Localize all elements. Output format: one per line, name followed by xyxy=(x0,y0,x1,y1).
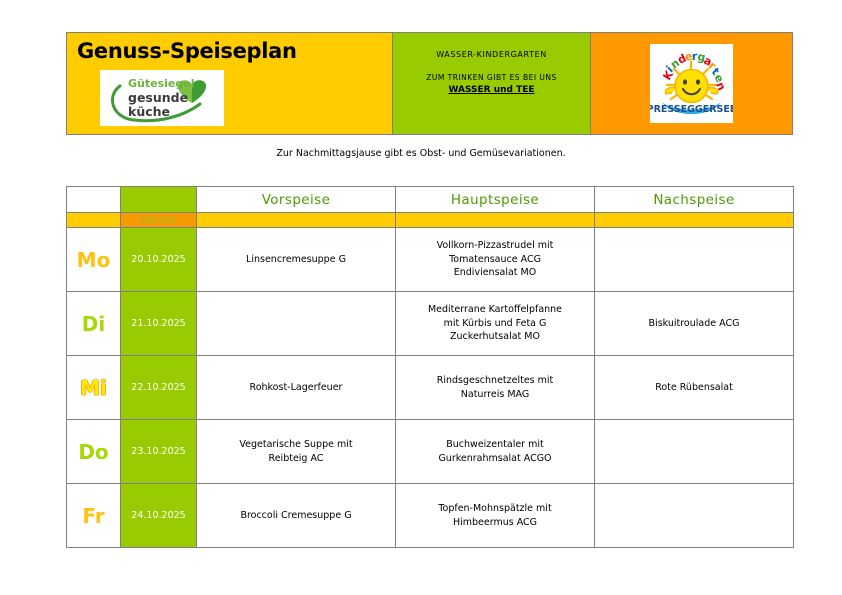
water-kindergarten-notice: WASSER-KINDERGARTEN ZUM TRINKEN GIBT ES … xyxy=(393,33,591,134)
guetesiegel-logo: Gütesiegel gesunde küche xyxy=(100,70,224,126)
main-cell: Mediterrane Kartoffelpfannemit Kürbis un… xyxy=(396,292,595,356)
afternoon-snack-note: Zur Nachmittagsjause gibt es Obst- und G… xyxy=(0,148,842,159)
dessert-cell xyxy=(595,484,794,548)
table-row: Di 21.10.2025 Mediterrane Kartoffelpfann… xyxy=(67,292,794,356)
banner-title-cell: Genuss-Speiseplan Gütesiegel gesunde küc… xyxy=(67,33,393,134)
table-accent-band-row: Datum xyxy=(67,213,794,228)
day-label: Fr xyxy=(67,484,121,548)
table-header-row: Vorspeise Hauptspeise Nachspeise xyxy=(67,187,794,213)
svg-text:Gütesiegel: Gütesiegel xyxy=(128,77,194,90)
day-label: Mo xyxy=(67,228,121,292)
day-label: Di xyxy=(67,292,121,356)
starter-cell: Broccoli Cremesuppe G xyxy=(197,484,396,548)
header-cell-dessert: Nachspeise xyxy=(595,187,794,213)
header-cell-date xyxy=(121,187,197,213)
dessert-cell xyxy=(595,420,794,484)
main-cell: Vollkorn-Pizzastrudel mitTomatensauce AC… xyxy=(396,228,595,292)
main-cell: Rindsgeschnetzeltes mitNaturreis MAG xyxy=(396,356,595,420)
dessert-cell: Rote Rübensalat xyxy=(595,356,794,420)
header-banner: Genuss-Speiseplan Gütesiegel gesunde küc… xyxy=(66,32,793,135)
starter-cell: Linsencremesuppe G xyxy=(197,228,396,292)
starter-cell: Vegetarische Suppe mitReibteig AC xyxy=(197,420,396,484)
band-cell-day xyxy=(67,213,121,228)
starter-cell: Rohkost-Lagerfeuer xyxy=(197,356,396,420)
water-notice-emphasis: WASSER und TEE xyxy=(448,85,534,95)
table-row: Mi 22.10.2025 Rohkost-Lagerfeuer Rindsge… xyxy=(67,356,794,420)
page-title: Genuss-Speiseplan xyxy=(77,39,297,63)
guetesiegel-icon: Gütesiegel gesunde küche xyxy=(100,70,224,126)
band-cell-starter xyxy=(197,213,396,228)
date-label: 23.10.2025 xyxy=(121,420,197,484)
band-cell-dessert xyxy=(595,213,794,228)
water-notice-text: ZUM TRINKEN GIBT ES BEI UNS xyxy=(426,73,557,82)
table-row: Do 23.10.2025 Vegetarische Suppe mitReib… xyxy=(67,420,794,484)
date-label: 22.10.2025 xyxy=(121,356,197,420)
main-cell: Buchweizentaler mitGurkenrahmsalat ACGO xyxy=(396,420,595,484)
svg-text:gesunde: gesunde xyxy=(128,90,188,105)
band-cell-datum-label: Datum xyxy=(121,213,197,228)
main-cell: Topfen-Mohnspätzle mitHimbeermus ACG xyxy=(396,484,595,548)
header-cell-day xyxy=(67,187,121,213)
menu-table: Vorspeise Hauptspeise Nachspeise Datum M… xyxy=(66,186,794,548)
table-row: Mo 20.10.2025 Linsencremesuppe G Vollkor… xyxy=(67,228,794,292)
dessert-cell: Biskuitroulade ACG xyxy=(595,292,794,356)
header-cell-starter: Vorspeise xyxy=(197,187,396,213)
starter-cell xyxy=(197,292,396,356)
dessert-cell xyxy=(595,228,794,292)
header-cell-main: Hauptspeise xyxy=(396,187,595,213)
date-label: 24.10.2025 xyxy=(121,484,197,548)
svg-text:küche: küche xyxy=(128,104,170,119)
water-notice-heading: WASSER-KINDERGARTEN xyxy=(436,50,547,59)
day-label: Do xyxy=(67,420,121,484)
date-label: 21.10.2025 xyxy=(121,292,197,356)
date-label: 20.10.2025 xyxy=(121,228,197,292)
day-label: Mi xyxy=(67,356,121,420)
table-row: Fr 24.10.2025 Broccoli Cremesuppe G Topf… xyxy=(67,484,794,548)
speiseplan-page: Genuss-Speiseplan Gütesiegel gesunde küc… xyxy=(0,0,842,595)
kindergarten-logo-cell: K i n d e r g a r t e n PRESSEGGERSEE xyxy=(591,33,792,134)
kindergarten-sun-logo-icon: K i n d e r g a r t e n PRESSEGGERSEE xyxy=(650,44,733,123)
band-cell-main xyxy=(396,213,595,228)
kindergarten-logo-banner-text: PRESSEGGERSEE xyxy=(650,104,733,115)
